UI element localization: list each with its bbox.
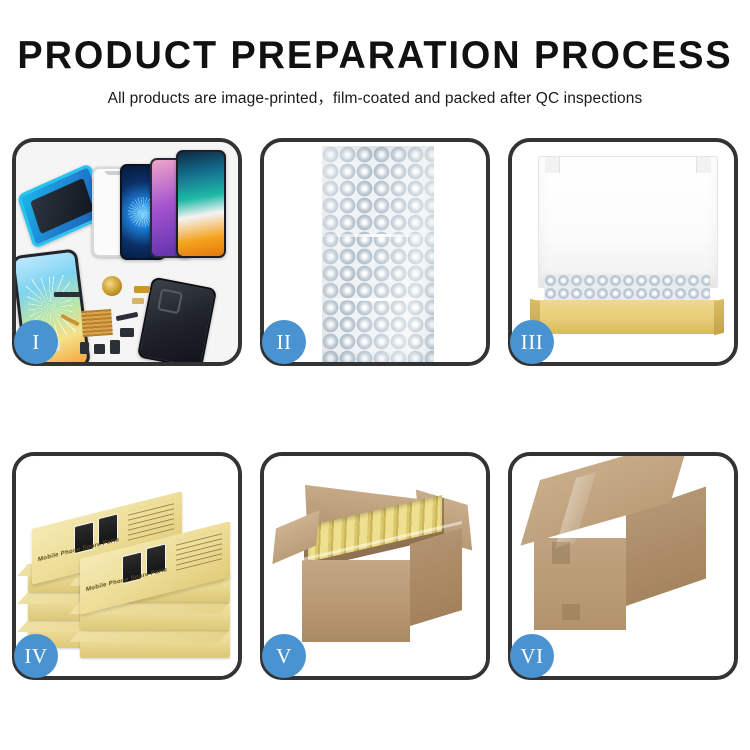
speaker-coil-part [102, 276, 122, 296]
carton-tab [552, 542, 570, 564]
wrap-seam [322, 298, 434, 301]
small-part [132, 298, 144, 304]
process-step-2: II [260, 138, 490, 366]
gradient-phone-part [176, 150, 226, 258]
carton-tab [562, 604, 580, 620]
step-badge-1: I [14, 320, 58, 364]
small-part [120, 328, 134, 337]
process-step-3: III [508, 138, 738, 366]
step-badge-4: IV [14, 634, 58, 678]
open-shipping-carton [282, 486, 478, 654]
kraft-box-base [536, 300, 718, 334]
wrap-seam [322, 234, 434, 237]
small-part [94, 344, 105, 354]
small-part [134, 286, 150, 293]
carton-front [534, 538, 626, 630]
process-row-top: I II III [12, 138, 738, 366]
box-stack: Mobile Phone Spare Parts Mobile Phone Sp… [22, 470, 238, 670]
small-part [80, 342, 89, 354]
process-step-6: VI [508, 452, 738, 680]
page-title: PRODUCT PREPARATION PROCESS [11, 36, 739, 77]
sealed-shipping-carton [528, 480, 728, 660]
carton-side [410, 528, 462, 626]
flex-cable-part [116, 312, 139, 321]
box-lid [538, 156, 718, 288]
process-step-5: V [260, 452, 490, 680]
step-badge-5: V [262, 634, 306, 678]
connector-board-part [81, 309, 113, 337]
process-row-bottom: Mobile Phone Spare Parts Mobile Phone Sp… [12, 452, 738, 680]
step-badge-6: VI [510, 634, 554, 678]
page-header: PRODUCT PREPARATION PROCESS All products… [0, 0, 750, 108]
page-subtitle: All products are image-printed，film-coat… [0, 86, 750, 108]
process-step-4: Mobile Phone Spare Parts Mobile Phone Sp… [12, 452, 242, 680]
step-badge-2: II [262, 320, 306, 364]
step-badge-3: III [510, 320, 554, 364]
small-part [54, 292, 80, 297]
process-steps-grid: I II III [12, 138, 738, 680]
small-part [110, 340, 120, 354]
process-step-1: I [12, 138, 242, 366]
bubble-wrap [322, 146, 434, 362]
carton-front [302, 560, 410, 642]
